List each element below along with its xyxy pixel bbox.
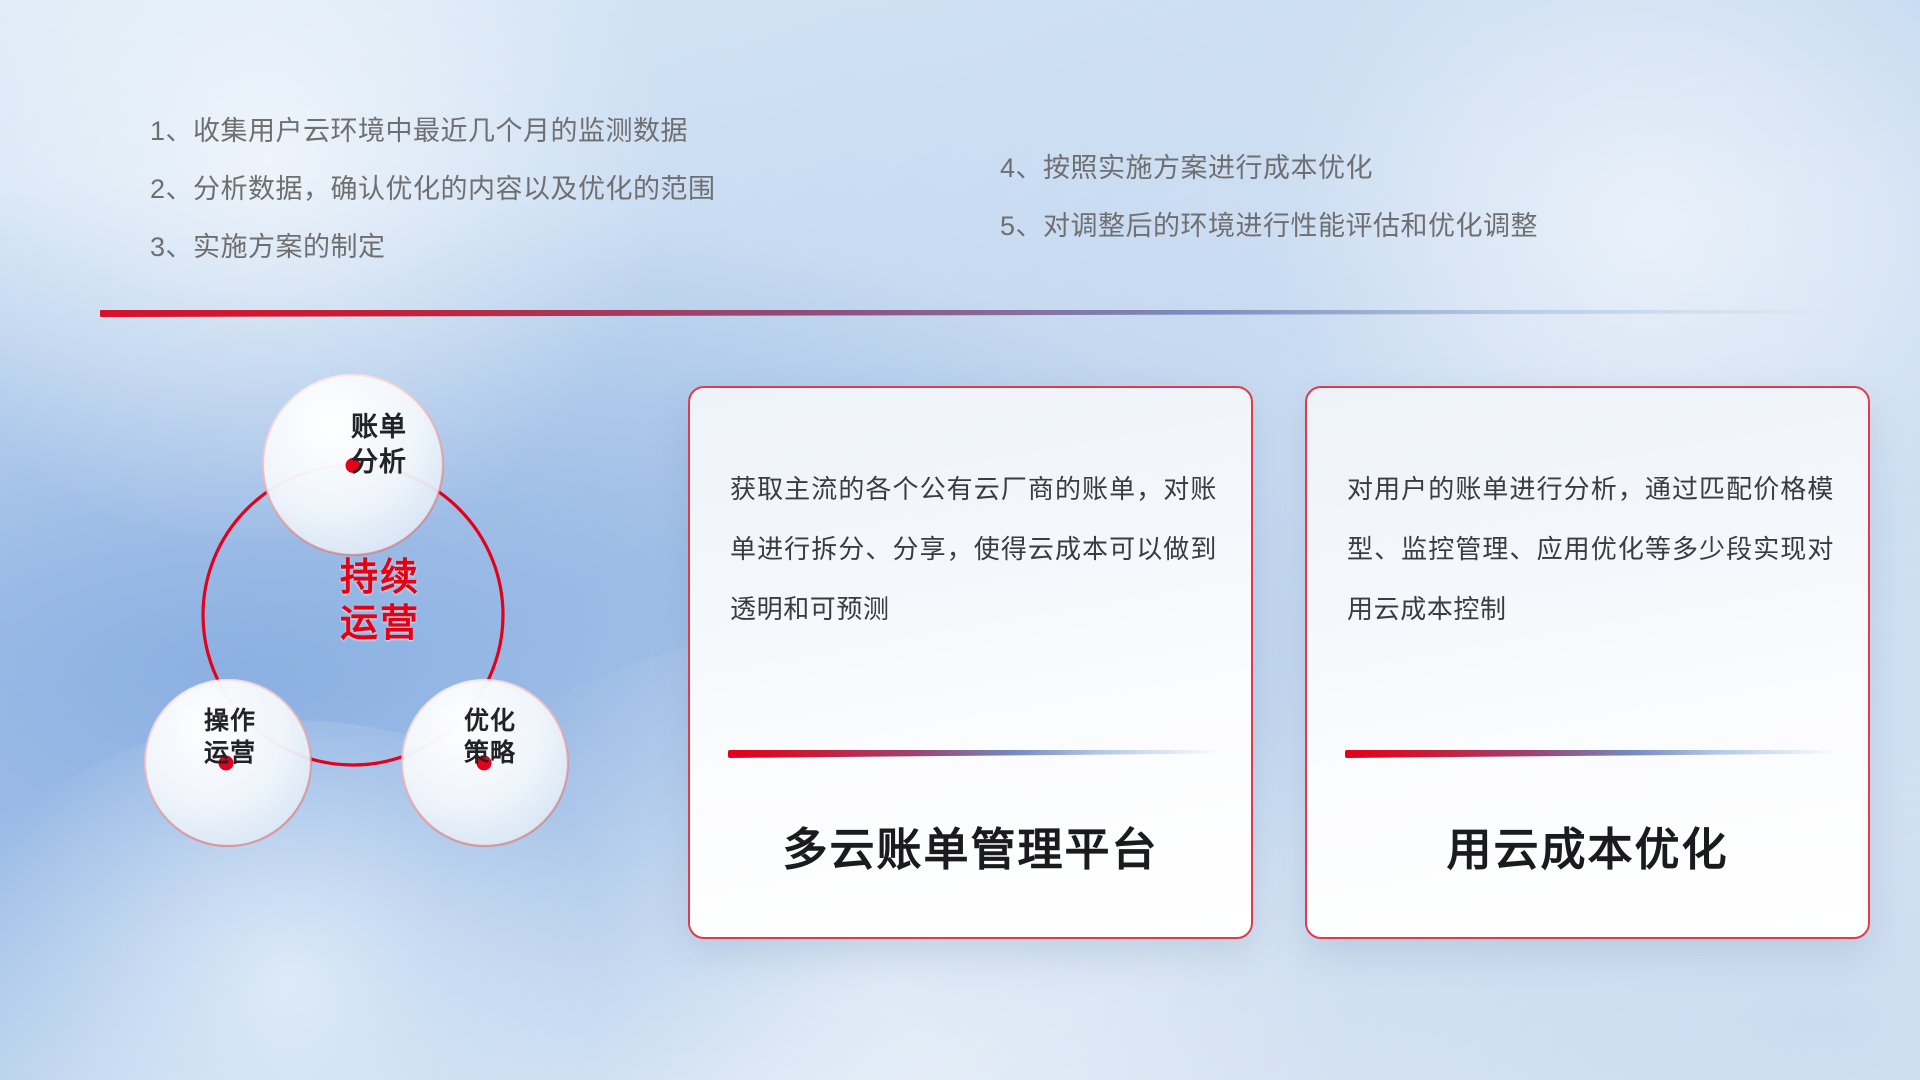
venn-label-center-line2: 运营 bbox=[285, 601, 475, 647]
bullet-list-left: 1、收集用户云环境中最近几个月的监测数据 2、分析数据，确认优化的内容以及优化的… bbox=[150, 118, 716, 261]
content-card-1[interactable]: 获取主流的各个公有云厂商的账单，对账单进行拆分、分享，使得云成本可以做到透明和可… bbox=[688, 386, 1253, 939]
venn-label-bottom-left: 操作 运营 bbox=[155, 705, 305, 769]
bullet-item-3: 3、实施方案的制定 bbox=[150, 234, 716, 261]
card-2-title: 用云成本优化 bbox=[1307, 813, 1868, 878]
card-2-divider bbox=[1345, 750, 1836, 758]
venn-label-left-line1: 操作 bbox=[155, 705, 305, 737]
card-1-divider bbox=[728, 750, 1219, 758]
venn-label-center-line1: 持续 bbox=[285, 555, 475, 601]
venn-diagram: 账单 分析 持续 运营 操作 运营 优化 策略 bbox=[95, 350, 615, 950]
bullet-item-1: 1、收集用户云环境中最近几个月的监测数据 bbox=[150, 118, 716, 145]
bullet-item-5: 5、对调整后的环境进行性能评估和优化调整 bbox=[1000, 213, 1538, 240]
card-1-body: 获取主流的各个公有云厂商的账单，对账单进行拆分、分享，使得云成本可以做到透明和可… bbox=[730, 460, 1217, 639]
venn-label-top-line1: 账单 bbox=[299, 410, 459, 445]
venn-label-bottom-right: 优化 策略 bbox=[415, 705, 565, 769]
venn-label-left-line2: 运营 bbox=[155, 737, 305, 769]
venn-label-top-line2: 分析 bbox=[299, 445, 459, 480]
bullet-item-4: 4、按照实施方案进行成本优化 bbox=[1000, 155, 1538, 182]
content-card-2[interactable]: 对用户的账单进行分析，通过匹配价格模型、监控管理、应用优化等多少段实现对用云成本… bbox=[1305, 386, 1870, 939]
card-1-title: 多云账单管理平台 bbox=[690, 813, 1251, 878]
venn-label-right-line1: 优化 bbox=[415, 705, 565, 737]
venn-label-right-line2: 策略 bbox=[415, 737, 565, 769]
section-divider-rule bbox=[100, 310, 1830, 317]
venn-label-center: 持续 运营 bbox=[285, 555, 475, 648]
slide-canvas: 1、收集用户云环境中最近几个月的监测数据 2、分析数据，确认优化的内容以及优化的… bbox=[0, 0, 1920, 1080]
venn-label-top: 账单 分析 bbox=[299, 410, 459, 479]
card-2-body: 对用户的账单进行分析，通过匹配价格模型、监控管理、应用优化等多少段实现对用云成本… bbox=[1347, 460, 1834, 639]
bullet-item-2: 2、分析数据，确认优化的内容以及优化的范围 bbox=[150, 176, 716, 203]
bullet-list-right: 4、按照实施方案进行成本优化 5、对调整后的环境进行性能评估和优化调整 bbox=[1000, 155, 1538, 240]
